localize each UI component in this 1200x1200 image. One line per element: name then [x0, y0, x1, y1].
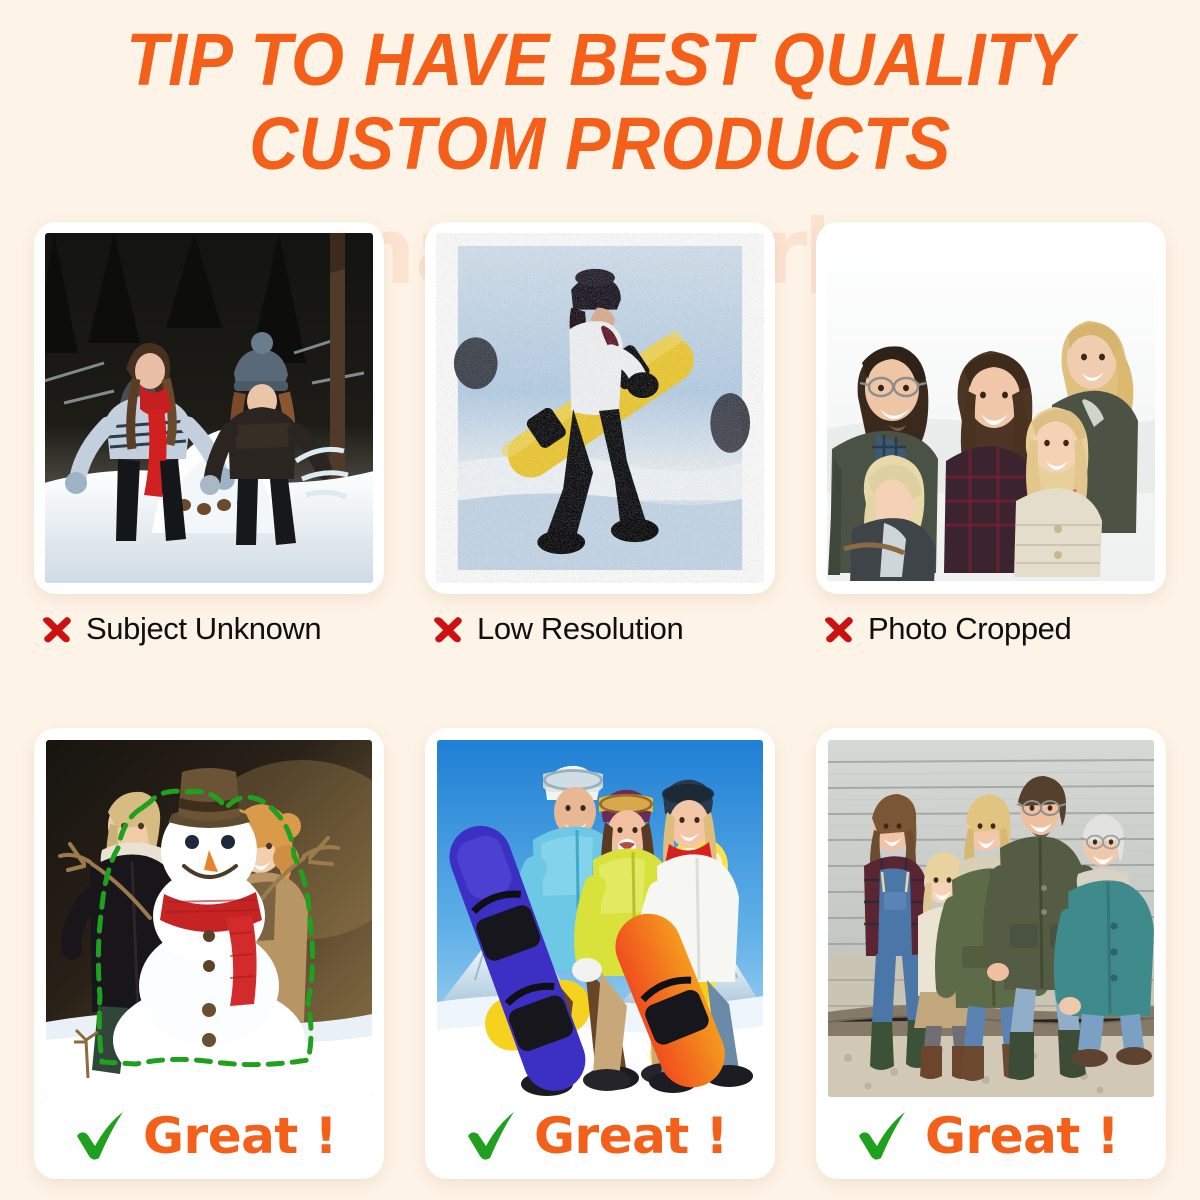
photo-family-of-five-by-wooden-barn	[828, 740, 1154, 1097]
page-title-line-2: CUSTOM PRODUCTS	[48, 102, 1152, 186]
bad-example-label-text: Subject Unknown	[86, 611, 321, 647]
photo-card[interactable]: Great !	[816, 728, 1166, 1179]
bad-example-label: Low Resolution	[425, 611, 775, 647]
good-example-label-text: Great !	[925, 1107, 1119, 1165]
good-example-label: Great !	[437, 1097, 763, 1175]
green-check-icon	[855, 1108, 911, 1164]
green-check-icon	[464, 1108, 520, 1164]
green-check-icon	[73, 1108, 129, 1164]
bad-examples-row: Subject Unknown	[0, 222, 1200, 670]
example-cell-great-snowboarders: Great !	[425, 728, 775, 1179]
bad-example-label-text: Low Resolution	[477, 611, 683, 647]
red-x-icon	[822, 612, 856, 646]
red-x-icon	[431, 612, 465, 646]
bad-example-label-text: Photo Cropped	[868, 611, 1071, 647]
red-x-icon	[40, 612, 74, 646]
example-cell-subject-unknown: Subject Unknown	[34, 222, 384, 670]
example-cell-great-snowman: Great !	[34, 728, 384, 1179]
bad-example-label: Photo Cropped	[816, 611, 1166, 647]
photo-two-women-building-snowman-in-forest	[45, 233, 373, 583]
example-cell-great-family: Great !	[816, 728, 1166, 1179]
bad-example-label: Subject Unknown	[34, 611, 384, 647]
good-example-label-text: Great !	[534, 1107, 728, 1165]
page-title: TIP TO HAVE BEST QUALITY CUSTOM PRODUCTS	[0, 18, 1200, 186]
example-cell-photo-cropped: Photo Cropped	[816, 222, 1166, 670]
photo-card[interactable]	[425, 222, 775, 594]
photo-card[interactable]: Great !	[34, 728, 384, 1179]
photo-pixelated-snowboarder-carrying-yellow-board	[436, 233, 764, 583]
good-example-label-text: Great !	[143, 1107, 337, 1165]
examples-grid: Subject Unknown	[0, 222, 1200, 1179]
photo-card[interactable]	[34, 222, 384, 594]
example-cell-low-resolution: Low Resolution	[425, 222, 775, 670]
good-examples-row: Great !	[0, 728, 1200, 1179]
good-example-label: Great !	[46, 1097, 372, 1175]
photo-card[interactable]: Great !	[425, 728, 775, 1179]
photo-three-snowboarders-on-mountain	[437, 740, 763, 1097]
page-title-line-1: TIP TO HAVE BEST QUALITY	[48, 18, 1152, 102]
photo-family-group-portrait-cropped	[827, 233, 1155, 583]
photo-two-women-with-snowman-outlined-green-dashes	[46, 740, 372, 1097]
photo-card[interactable]	[816, 222, 1166, 594]
good-example-label: Great !	[828, 1097, 1154, 1175]
